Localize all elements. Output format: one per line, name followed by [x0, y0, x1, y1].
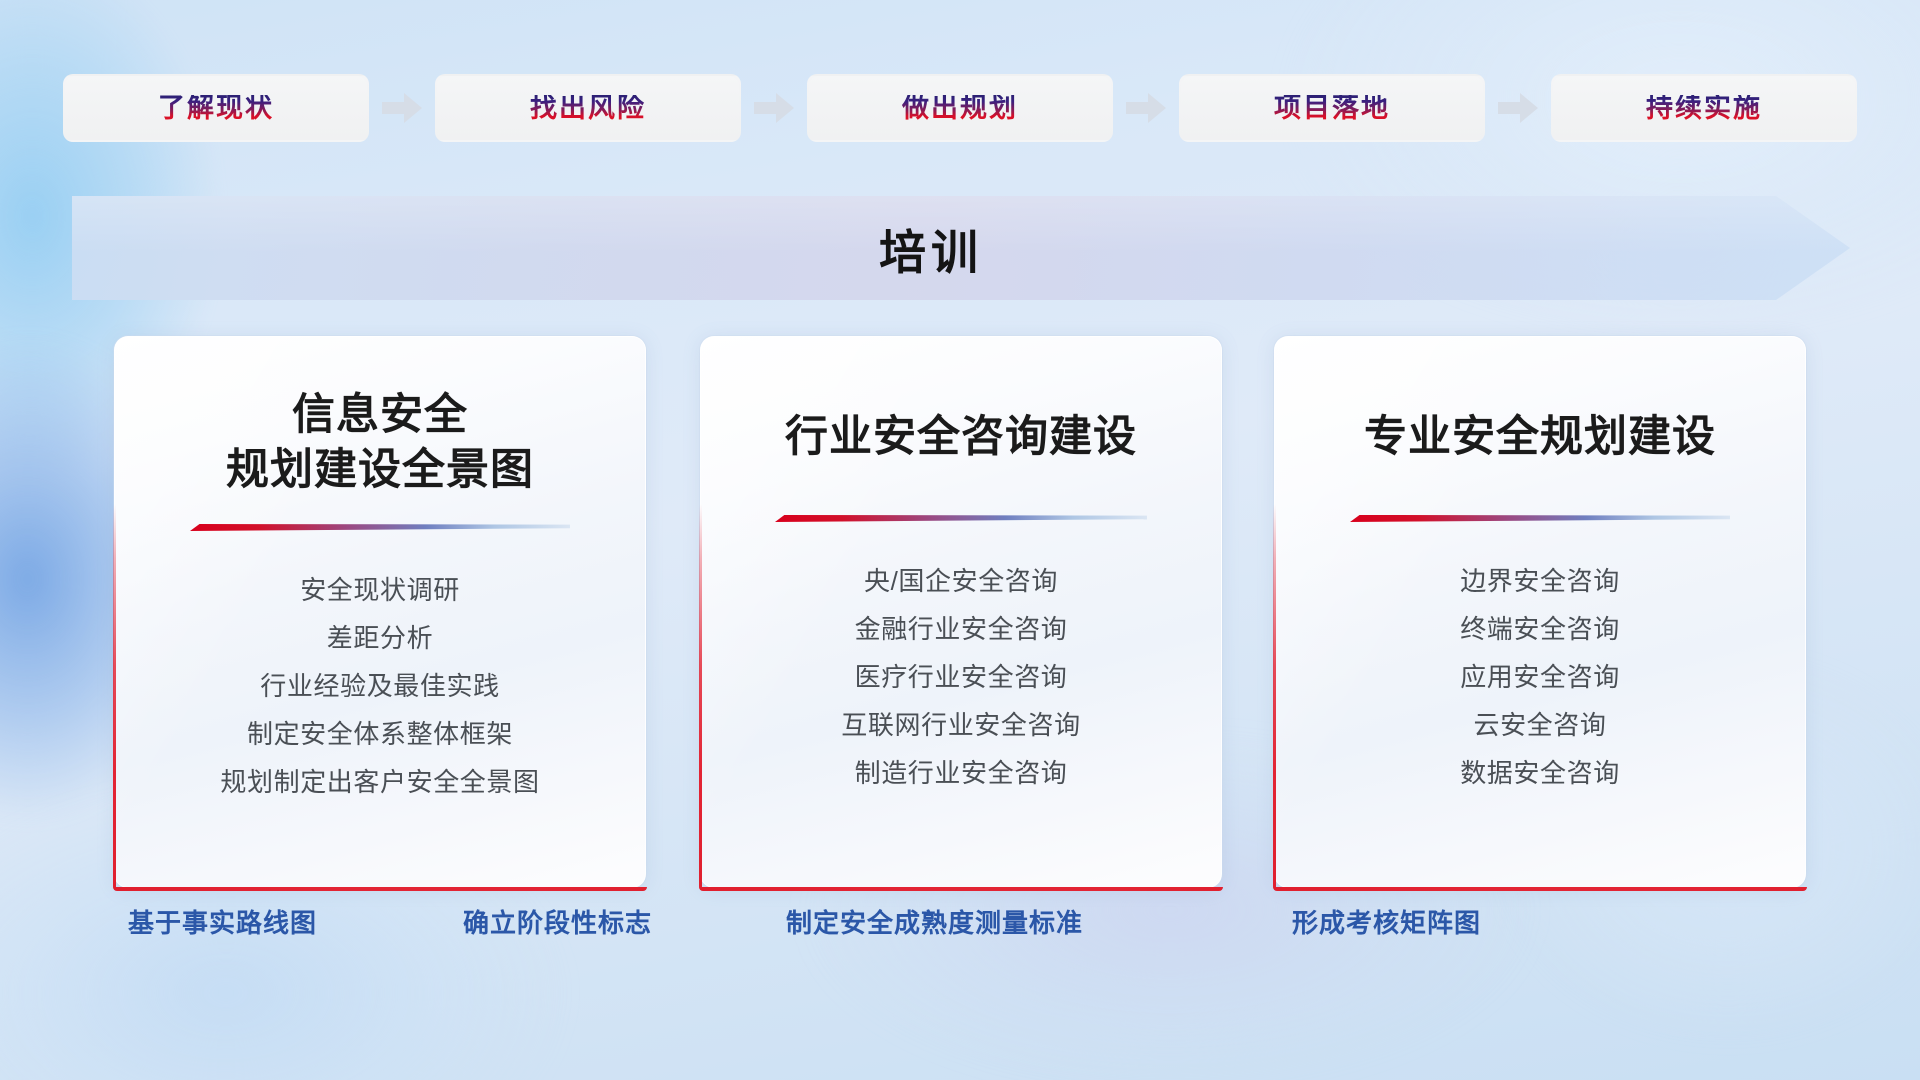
card-list-item[interactable]: 差距分析 — [327, 614, 433, 662]
bottom-label-2: 确立阶段性标志 — [463, 910, 652, 936]
card-list-item[interactable]: 应用安全咨询 — [1460, 653, 1620, 701]
service-cards-row: 信息安全规划建设全景图安全现状调研差距分析行业经验及最佳实践制定安全体系整体框架… — [0, 336, 1920, 888]
arrow-right-icon — [1485, 72, 1551, 144]
card-title-line-1: 行业安全咨询建设 — [785, 410, 1137, 465]
stage-box-4[interactable]: 项目落地 — [1179, 74, 1485, 142]
training-banner: 培训 — [72, 196, 1850, 300]
card-content: 专业安全规划建设边界安全咨询终端安全咨询应用安全咨询云安全咨询数据安全咨询 — [1274, 336, 1806, 888]
card-divider — [1350, 511, 1730, 527]
stage-label: 项目落地 — [1274, 95, 1390, 122]
bottom-label-row: 基于事实路线图确立阶段性标志制定安全成熟度测量标准形成考核矩阵图 — [0, 910, 1920, 980]
bottom-label-3: 制定安全成熟度测量标准 — [786, 910, 1083, 936]
card-list-item[interactable]: 医疗行业安全咨询 — [855, 653, 1068, 701]
stage-label: 做出规划 — [902, 95, 1018, 122]
stage-label: 持续实施 — [1646, 95, 1762, 122]
card-list-item[interactable]: 规划制定出客户安全全景图 — [220, 758, 539, 806]
service-card-2[interactable]: 行业安全咨询建设央/国企安全咨询金融行业安全咨询医疗行业安全咨询互联网行业安全咨… — [700, 336, 1222, 888]
card-title-line-2: 规划建设全景图 — [226, 443, 534, 498]
card-item-list: 边界安全咨询终端安全咨询应用安全咨询云安全咨询数据安全咨询 — [1308, 557, 1772, 797]
stage-box-3[interactable]: 做出规划 — [807, 74, 1113, 142]
service-card-1[interactable]: 信息安全规划建设全景图安全现状调研差距分析行业经验及最佳实践制定安全体系整体框架… — [114, 336, 646, 888]
card-list-item[interactable]: 互联网行业安全咨询 — [841, 701, 1080, 749]
training-banner-title: 培训 — [72, 196, 1850, 300]
card-divider — [775, 511, 1147, 527]
background-glow-top-right — [1140, 0, 1920, 360]
stage-box-5[interactable]: 持续实施 — [1551, 74, 1857, 142]
card-list-item[interactable]: 安全现状调研 — [300, 566, 460, 614]
card-item-list: 央/国企安全咨询金融行业安全咨询医疗行业安全咨询互联网行业安全咨询制造行业安全咨… — [734, 557, 1188, 797]
card-content: 信息安全规划建设全景图安全现状调研差距分析行业经验及最佳实践制定安全体系整体框架… — [114, 336, 646, 888]
stage-box-2[interactable]: 找出风险 — [435, 74, 741, 142]
card-title: 专业安全规划建设 — [1364, 410, 1716, 465]
card-title: 行业安全咨询建设 — [785, 410, 1137, 465]
arrow-right-icon — [741, 72, 807, 144]
bottom-label-4: 形成考核矩阵图 — [1292, 910, 1481, 936]
card-list-item[interactable]: 制定安全体系整体框架 — [247, 710, 513, 758]
card-item-list: 安全现状调研差距分析行业经验及最佳实践制定安全体系整体框架规划制定出客户安全全景… — [148, 566, 612, 806]
card-list-item[interactable]: 云安全咨询 — [1473, 701, 1606, 749]
card-divider — [190, 520, 570, 536]
card-title-line-1: 信息安全 — [226, 388, 534, 443]
stage-flow-row: 了解现状找出风险做出规划项目落地持续实施 — [0, 72, 1920, 144]
service-card-3[interactable]: 专业安全规划建设边界安全咨询终端安全咨询应用安全咨询云安全咨询数据安全咨询 — [1274, 336, 1806, 888]
arrow-right-icon — [1113, 72, 1179, 144]
bottom-label-1: 基于事实路线图 — [128, 910, 317, 936]
card-title-line-1: 专业安全规划建设 — [1364, 410, 1716, 465]
card-list-item[interactable]: 数据安全咨询 — [1460, 749, 1620, 797]
stage-label: 了解现状 — [158, 95, 274, 122]
card-list-item[interactable]: 终端安全咨询 — [1460, 605, 1620, 653]
stage-box-1[interactable]: 了解现状 — [63, 74, 369, 142]
card-list-item[interactable]: 行业经验及最佳实践 — [260, 662, 499, 710]
card-list-item[interactable]: 央/国企安全咨询 — [864, 557, 1058, 605]
card-title: 信息安全规划建设全景图 — [226, 388, 534, 498]
card-list-item[interactable]: 边界安全咨询 — [1460, 557, 1620, 605]
stage-label: 找出风险 — [530, 95, 646, 122]
card-list-item[interactable]: 金融行业安全咨询 — [855, 605, 1068, 653]
arrow-right-icon — [369, 72, 435, 144]
card-content: 行业安全咨询建设央/国企安全咨询金融行业安全咨询医疗行业安全咨询互联网行业安全咨… — [700, 336, 1222, 888]
card-list-item[interactable]: 制造行业安全咨询 — [855, 749, 1068, 797]
